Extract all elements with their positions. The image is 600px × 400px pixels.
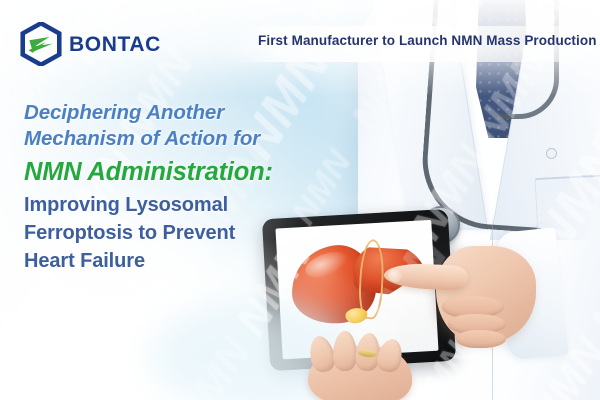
pointing-hand-fold-3 [456, 330, 506, 348]
brand-logo[interactable]: BONTAC [20, 22, 161, 66]
subtitle-line-3: Heart Failure [24, 247, 354, 275]
subtitle-line-2: Ferroptosis to Prevent [24, 219, 354, 247]
holding-finger-2 [333, 331, 357, 371]
coat-button [546, 148, 557, 159]
headline-block: Deciphering Another Mechanism of Action … [24, 100, 354, 276]
pointing-fingernail [388, 269, 402, 282]
headline-line-2: Mechanism of Action for [24, 126, 354, 152]
brand-name: BONTAC [69, 34, 161, 55]
headline-highlight: NMN Administration: [24, 154, 354, 190]
header-tagline: First Manufacturer to Launch NMN Mass Pr… [258, 33, 588, 48]
subtitle-line-1: Improving Lysosomal [24, 191, 354, 219]
headline-line-1: Deciphering Another [24, 100, 354, 126]
nmn-promo-banner: NMNNMNNMNNMNNMNNMNNMNNMNNMNNMNNMNNMNNMNN… [0, 0, 600, 400]
bontac-hexagon-leaf-logo-icon [20, 22, 62, 66]
hand-pointing-at-screen [390, 238, 540, 358]
